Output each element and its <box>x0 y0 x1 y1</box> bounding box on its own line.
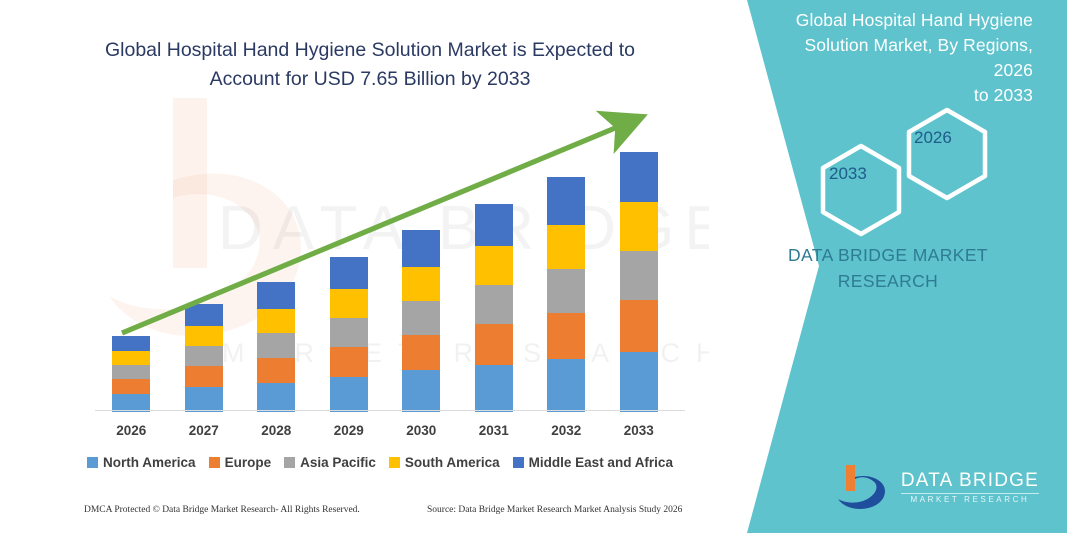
bar-segment <box>547 313 585 359</box>
logo-wordmark: DATA BRIDGE MARKET RESEARCH <box>901 471 1039 504</box>
bar-segment <box>402 370 440 412</box>
company-logo: DATA BRIDGE MARKET RESEARCH <box>835 463 1039 511</box>
footer-source: Source: Data Bridge Market Research Mark… <box>427 505 682 515</box>
bar-2032 <box>547 177 585 412</box>
legend-swatch <box>87 457 98 468</box>
hexagon-label-2026: 2026 <box>914 128 952 148</box>
bar-segment <box>112 365 150 379</box>
bar-segment <box>185 387 223 412</box>
logo-subtitle: MARKET RESEARCH <box>901 496 1039 504</box>
bar-segment <box>620 300 658 352</box>
bar-segment <box>620 352 658 412</box>
logo-divider <box>901 493 1039 494</box>
chart-legend: North AmericaEuropeAsia PacificSouth Ame… <box>0 455 760 470</box>
bar-segment <box>257 383 295 412</box>
chart-title-line-1: Global Hospital Hand Hygiene Solution Ma… <box>60 36 680 65</box>
x-axis-label-2027: 2027 <box>174 423 234 438</box>
bar-segment <box>257 309 295 333</box>
legend-label: Asia Pacific <box>300 455 376 470</box>
legend-item-north-america[interactable]: North America <box>87 455 196 470</box>
bar-segment <box>257 333 295 358</box>
bar-segment <box>475 324 513 365</box>
bar-segment <box>475 246 513 285</box>
bar-segment <box>402 335 440 370</box>
bar-2030 <box>402 230 440 412</box>
legend-label: North America <box>103 455 196 470</box>
footer-copyright: DMCA Protected © Data Bridge Market Rese… <box>84 505 360 515</box>
bar-segment <box>330 377 368 412</box>
bar-segment <box>330 318 368 347</box>
chart-plot-area <box>95 110 675 412</box>
bar-segment <box>547 359 585 412</box>
bar-segment <box>330 347 368 377</box>
legend-item-asia-pacific[interactable]: Asia Pacific <box>284 455 376 470</box>
bar-segment <box>547 177 585 225</box>
brand-name-line-2: RESEARCH <box>709 268 1067 294</box>
legend-label: Europe <box>225 455 272 470</box>
x-axis-label-2030: 2030 <box>391 423 451 438</box>
bar-segment <box>547 269 585 313</box>
panel-title-line-1: Global Hospital Hand Hygiene <box>763 8 1033 33</box>
bar-segment <box>330 289 368 318</box>
bar-segment <box>112 336 150 351</box>
bar-segment <box>257 282 295 309</box>
hexagon-label-2033: 2033 <box>829 164 867 184</box>
chart-axis-line <box>95 410 685 411</box>
bar-segment <box>257 358 295 383</box>
bar-segment <box>402 301 440 335</box>
bar-2026 <box>112 336 150 412</box>
bar-segment <box>185 366 223 387</box>
bar-segment <box>475 204 513 246</box>
bar-segment <box>185 326 223 346</box>
bar-segment <box>402 230 440 267</box>
brand-name-line-1: DATA BRIDGE MARKET <box>709 242 1067 268</box>
x-axis-label-2031: 2031 <box>464 423 524 438</box>
bar-segment <box>620 152 658 202</box>
bar-segment <box>185 304 223 326</box>
legend-label: Middle East and Africa <box>529 455 673 470</box>
legend-swatch <box>513 457 524 468</box>
bar-2033 <box>620 152 658 412</box>
brand-name: DATA BRIDGE MARKET RESEARCH <box>709 242 1067 295</box>
bar-segment <box>620 202 658 251</box>
bar-2031 <box>475 204 513 412</box>
bar-segment <box>475 285 513 324</box>
legend-item-south-america[interactable]: South America <box>389 455 500 470</box>
bar-segment <box>330 257 368 289</box>
panel-title: Global Hospital Hand Hygiene Solution Ma… <box>763 8 1033 107</box>
chart-panel: DATA BRIDGE MARKET RESEARCH Global Hospi… <box>0 0 760 533</box>
legend-item-middle-east-and-africa[interactable]: Middle East and Africa <box>513 455 673 470</box>
data-bridge-logo-icon <box>835 463 891 511</box>
bar-2027 <box>185 304 223 412</box>
legend-item-europe[interactable]: Europe <box>209 455 272 470</box>
bar-segment <box>112 379 150 394</box>
x-axis-label-2033: 2033 <box>609 423 669 438</box>
hexagon-2033-outline <box>823 146 899 234</box>
legend-swatch <box>389 457 400 468</box>
panel-title-line-2: Solution Market, By Regions, 2026 <box>763 33 1033 83</box>
bar-2029 <box>330 257 368 412</box>
x-axis-label-2026: 2026 <box>101 423 161 438</box>
chart-title-line-2: Account for USD 7.65 Billion by 2033 <box>60 65 680 94</box>
bar-segment <box>185 346 223 366</box>
panel-title-line-3: to 2033 <box>763 83 1033 108</box>
bar-segment <box>547 225 585 269</box>
bar-segment <box>112 351 150 365</box>
bar-segment <box>402 267 440 301</box>
bar-segment <box>620 251 658 300</box>
chart-title: Global Hospital Hand Hygiene Solution Ma… <box>60 36 680 93</box>
legend-swatch <box>209 457 220 468</box>
bar-segment <box>475 365 513 412</box>
hexagon-2026-outline <box>909 110 985 198</box>
x-axis-label-2032: 2032 <box>536 423 596 438</box>
x-axis-label-2029: 2029 <box>319 423 379 438</box>
bar-2028 <box>257 282 295 412</box>
brand-panel: Global Hospital Hand Hygiene Solution Ma… <box>709 0 1067 533</box>
legend-swatch <box>284 457 295 468</box>
infographic-root: DATA BRIDGE MARKET RESEARCH Global Hospi… <box>0 0 1067 533</box>
footer: DMCA Protected © Data Bridge Market Rese… <box>0 505 760 527</box>
chart-x-axis-labels: 20262027202820292030203120322033 <box>95 423 675 443</box>
legend-label: South America <box>405 455 500 470</box>
logo-title: DATA BRIDGE <box>901 471 1039 490</box>
x-axis-label-2028: 2028 <box>246 423 306 438</box>
